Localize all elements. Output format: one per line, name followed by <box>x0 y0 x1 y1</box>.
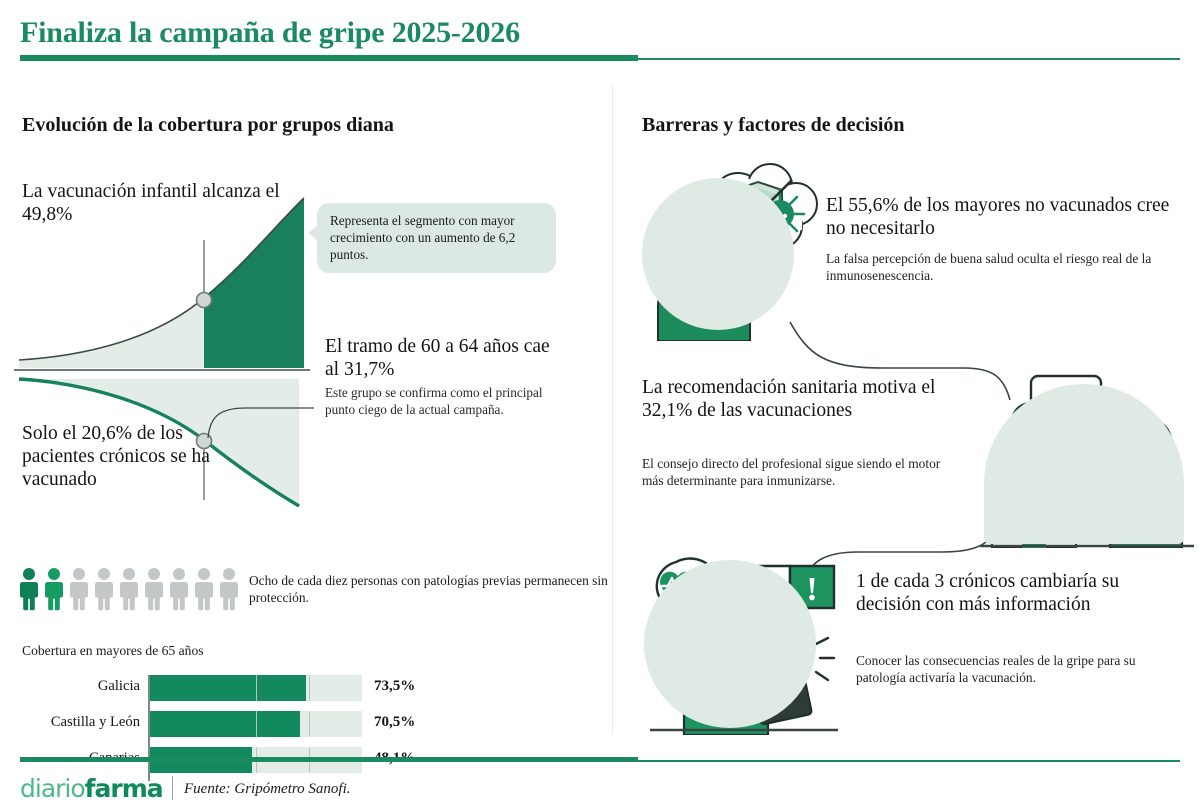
children-callout-bubble: Representa el segmento con mayor crecimi… <box>317 203 556 273</box>
stat-60-64-sub: Este grupo se confirma como el principal… <box>325 385 560 418</box>
bars-title: Cobertura en mayores de 65 años <box>22 643 204 659</box>
header: Finaliza la campaña de gripe 2025-2026 <box>0 0 1200 70</box>
table-row: Galicia 73,5% <box>22 675 582 701</box>
logo-part-2: farma <box>85 774 163 803</box>
stat-children-headline: La vacunación infantil alcanza el 49,8% <box>22 180 292 226</box>
bar-value: 73,5% <box>374 678 415 695</box>
stat-chronic-headline: Solo el 20,6% de los pacientes crónicos … <box>22 422 252 491</box>
diariofarma-logo[interactable]: diariofarma <box>20 774 163 803</box>
chronic-pictogram-note: Ocho de cada diez personas con patología… <box>249 572 612 607</box>
elderly-man-illustration <box>630 156 830 341</box>
bar-track <box>150 711 362 737</box>
footer: diariofarma Fuente: Gripómetro Sanofi. <box>0 742 1200 800</box>
source-note: Fuente: Gripómetro Sanofi. <box>184 781 351 798</box>
man-tablet-illustration: ? ! <box>626 540 856 735</box>
person-icon <box>118 567 140 611</box>
illustration-backdrop <box>644 560 816 728</box>
header-rule-accent <box>20 55 638 61</box>
chronic-pictogram <box>18 567 240 611</box>
illustration-backdrop <box>642 178 794 330</box>
upper-data-point <box>197 293 212 308</box>
person-icon <box>18 567 40 611</box>
logo-separator <box>172 776 173 800</box>
bar-label: Castilla y León <box>0 714 140 731</box>
logo-part-1: diario <box>20 774 85 803</box>
bar-track <box>150 675 362 701</box>
page-title: Finaliza la campaña de gripe 2025-2026 <box>20 16 520 50</box>
footer-rule-accent <box>20 757 638 762</box>
person-icon <box>193 567 215 611</box>
infographic-page: Finaliza la campaña de gripe 2025-2026 E… <box>0 0 1200 800</box>
table-row: Castilla y León 70,5% <box>22 711 582 737</box>
bar-label: Galicia <box>0 678 140 695</box>
block-1-sub: La falsa percepción de buena salud ocult… <box>826 250 1176 284</box>
right-column: Barreras y factores de decisión <box>612 70 1200 742</box>
person-icon <box>143 567 165 611</box>
person-icon <box>43 567 65 611</box>
block-3-sub: Conocer las consecuencias reales de la g… <box>856 652 1166 686</box>
bar-tick-50 <box>256 675 257 701</box>
bar-value: 70,5% <box>374 714 415 731</box>
person-icon <box>93 567 115 611</box>
person-icon <box>68 567 90 611</box>
bar-fill <box>150 711 300 737</box>
bar-tick-50 <box>256 711 257 737</box>
person-icon <box>168 567 190 611</box>
left-column: Evolución de la cobertura por grupos dia… <box>0 70 612 742</box>
svg-text:!: ! <box>806 571 817 608</box>
left-section-title: Evolución de la cobertura por grupos dia… <box>22 114 394 137</box>
stat-60-64-headline: El tramo de 60 a 64 años cae al 31,7% <box>325 335 565 381</box>
block-3-headline: 1 de cada 3 crónicos cambiaría su decisi… <box>856 570 1156 617</box>
right-section-title: Barreras y factores de decisión <box>642 114 905 137</box>
block-2-headline: La recomendación sanitaria motiva el 32,… <box>642 376 962 423</box>
block-1-headline: El 55,6% de los mayores no vacunados cre… <box>826 194 1186 241</box>
bar-tick-75 <box>309 675 310 701</box>
bar-tick-75 <box>309 711 310 737</box>
person-icon <box>218 567 240 611</box>
doctor-patient-illustration <box>950 358 1200 548</box>
block-2-sub: El consejo directo del profesional sigue… <box>642 455 962 489</box>
bar-fill <box>150 675 306 701</box>
